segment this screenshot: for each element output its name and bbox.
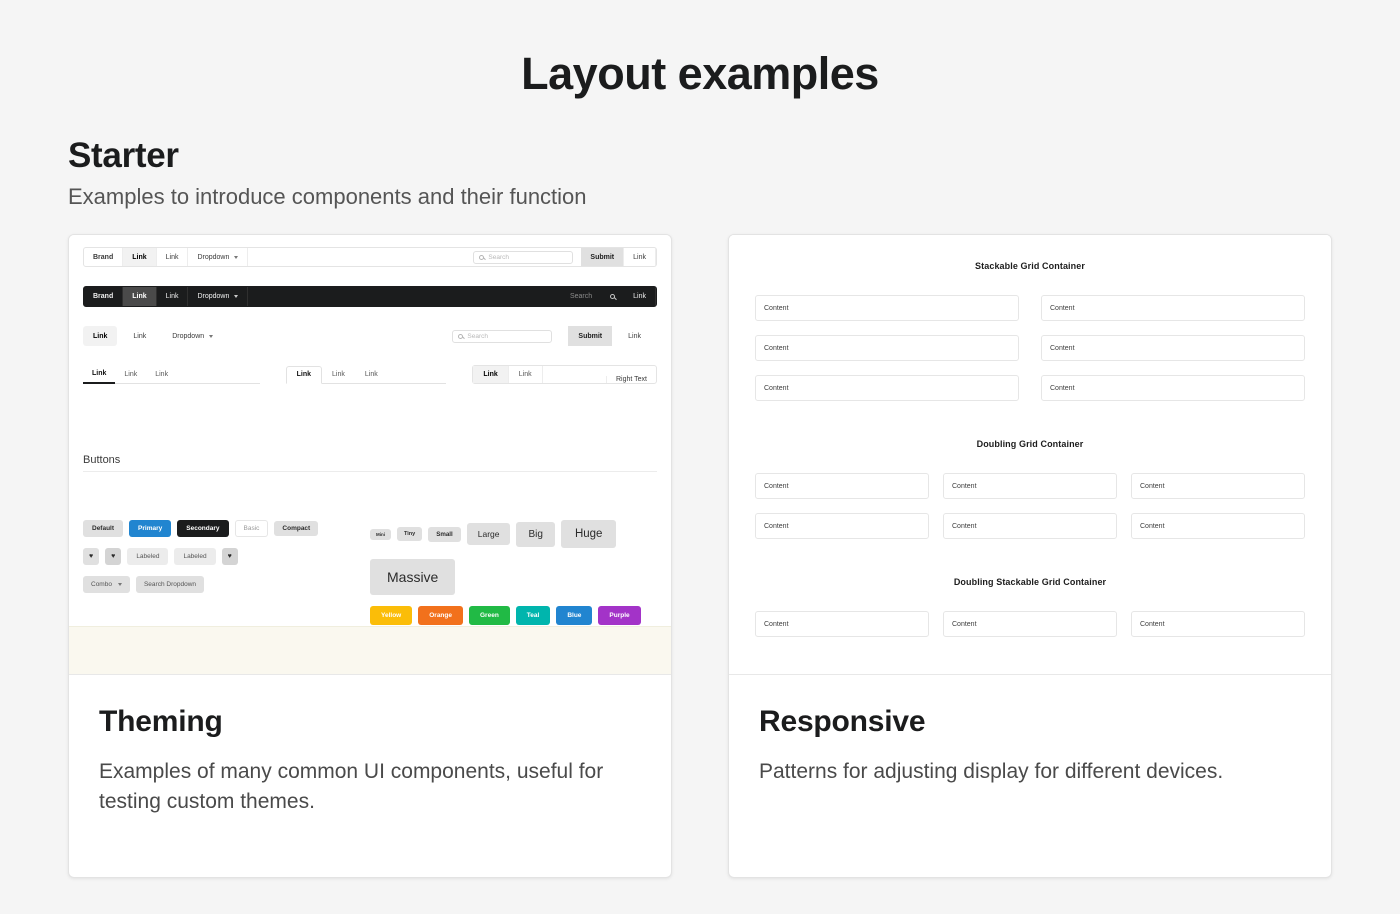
search-placeholder-secondary: Search (467, 333, 488, 340)
search-icon-secondary (458, 334, 463, 339)
section-subtitle: Examples to introduce components and the… (68, 184, 1400, 210)
grid-cell: Content (943, 513, 1117, 539)
tabs-pointing[interactable]: Link Link Right Text (472, 365, 657, 384)
button-heart-icon-1[interactable]: ♥ (83, 548, 99, 565)
tab-pointing-right-text: Right Text (606, 376, 656, 383)
button-combo-dropdown[interactable]: Combo (83, 576, 130, 593)
grid-cell: Content (1131, 513, 1305, 539)
grid-doubling-stackable: Content Content Content (755, 611, 1305, 637)
button-labeled-1[interactable]: Labeled (127, 548, 168, 565)
menu-item-brand-inverted[interactable]: Brand (84, 287, 123, 306)
menu-item-right-link-secondary[interactable]: Link (618, 326, 651, 346)
tab-boxed-1[interactable]: Link (286, 366, 322, 384)
heart-icon-1: ♥ (89, 553, 93, 560)
button-color-yellow[interactable]: Yellow (370, 606, 412, 625)
grid-cell: Content (755, 375, 1019, 401)
search-icon (479, 255, 484, 260)
heart-icon-2: ♥ (111, 553, 115, 560)
grid-cell: Content (1041, 335, 1305, 361)
menu-item-link-1[interactable]: Link (123, 248, 156, 266)
menu-item-dropdown-inverted[interactable]: Dropdown (188, 287, 248, 306)
menu-spacer (248, 248, 465, 266)
menu-item-right-link-inverted[interactable]: Link (624, 287, 656, 306)
tab-underline-3[interactable]: Link (146, 371, 177, 383)
button-secondary[interactable]: Secondary (177, 520, 228, 537)
grid-title-doubling-stackable: Doubling Stackable Grid Container (755, 577, 1305, 587)
menu-item-right-link[interactable]: Link (624, 248, 656, 266)
page-title: Layout examples (0, 0, 1400, 100)
menu-inverted[interactable]: Brand Link Link Dropdown Search Link (83, 286, 657, 307)
buttons-row-massive: Massive (370, 559, 657, 595)
grid-cell: Content (1131, 473, 1305, 499)
buttons-row-colors: Yellow Orange Green Teal Blue Purple (370, 606, 657, 625)
card-description-theming: Examples of many common UI components, u… (99, 757, 641, 817)
search-placeholder: Search (488, 254, 509, 261)
button-search-dropdown[interactable]: Search Dropdown (136, 576, 204, 593)
tab-pointing-1[interactable]: Link (473, 366, 508, 383)
button-size-small[interactable]: Small (428, 527, 461, 542)
tab-underline-2[interactable]: Link (115, 371, 146, 383)
card-responsive-body: Responsive Patterns for adjusting displa… (729, 675, 1331, 787)
button-size-mini[interactable]: Mini (370, 529, 391, 540)
menu-item-link-2-inverted[interactable]: Link (157, 287, 189, 306)
menu-search-wrap-secondary[interactable]: Search (442, 326, 562, 346)
search-icon-inverted (610, 294, 615, 299)
buttons-row-dropdowns: Combo Search Dropdown (83, 576, 370, 593)
grid-cell: Content (755, 335, 1019, 361)
buttons-column-left: Default Primary Secondary Basic Compact … (83, 520, 370, 636)
tab-rows: Link Link Link Link Link Link Link Link (83, 365, 657, 384)
section-title: Starter (68, 136, 1400, 176)
grid-cell: Content (1041, 375, 1305, 401)
grid-cell: Content (1041, 295, 1305, 321)
grid-cell: Content (943, 611, 1117, 637)
section-starter: Starter Examples to introduce components… (0, 100, 1400, 210)
grid-stackable: Content Content Content Content Content … (755, 295, 1305, 401)
tabs-boxed[interactable]: Link Link Link (286, 365, 447, 384)
tab-boxed-3[interactable]: Link (355, 367, 388, 383)
button-size-big[interactable]: Big (516, 522, 554, 547)
button-basic[interactable]: Basic (235, 520, 269, 537)
grid-cell: Content (755, 473, 929, 499)
menu-spacer-secondary (229, 326, 442, 346)
buttons-heading: Buttons (83, 454, 657, 472)
card-theming-body: Theming Examples of many common UI compo… (69, 675, 671, 817)
menu-item-link-2[interactable]: Link (157, 248, 189, 266)
buttons-column-right: Mini Tiny Small Large Big Huge Massive (370, 520, 657, 636)
menu-item-link-1-secondary[interactable]: Link (83, 326, 117, 346)
button-heart-icon-3[interactable]: ♥ (222, 548, 238, 565)
button-size-tiny[interactable]: Tiny (397, 527, 422, 541)
button-labeled-2[interactable]: Labeled (174, 548, 215, 565)
buttons-zone: Default Primary Secondary Basic Compact … (83, 520, 657, 636)
responsive-preview: Stackable Grid Container Content Content… (729, 235, 1331, 675)
submit-button[interactable]: Submit (581, 248, 624, 266)
grid-cell: Content (755, 611, 929, 637)
button-default[interactable]: Default (83, 520, 123, 537)
grid-title-stackable: Stackable Grid Container (755, 261, 1305, 271)
button-size-huge[interactable]: Huge (561, 520, 617, 548)
menu-item-brand[interactable]: Brand (84, 248, 123, 266)
buttons-row-sizes: Mini Tiny Small Large Big Huge (370, 520, 657, 548)
theming-preview: Brand Link Link Dropdown Search Submit (69, 235, 671, 675)
page-root: Layout examples Starter Examples to intr… (0, 0, 1400, 914)
search-icon-inverted-wrap[interactable] (601, 287, 624, 306)
buttons-row-labeled: ♥ ♥ Labeled Labeled ♥ (83, 548, 370, 565)
card-title-responsive: Responsive (759, 705, 1301, 739)
menu-bordered[interactable]: Brand Link Link Dropdown Search Submit (83, 247, 657, 267)
menu-item-link-1-inverted[interactable]: Link (123, 287, 156, 306)
tab-pointing-2[interactable]: Link (509, 366, 543, 383)
card-grid: Brand Link Link Dropdown Search Submit (0, 210, 1400, 878)
button-size-massive[interactable]: Massive (370, 559, 455, 595)
grid-cell: Content (943, 473, 1117, 499)
menu-item-dropdown-secondary[interactable]: Dropdown (162, 326, 223, 346)
menu-item-link-2-secondary[interactable]: Link (123, 326, 156, 346)
heart-icon-3: ♥ (228, 553, 232, 560)
menu-search-wrap[interactable]: Search (465, 248, 581, 266)
tab-boxed-2[interactable]: Link (322, 367, 355, 383)
combo-label: Combo (91, 581, 112, 588)
grid-doubling: Content Content Content Content Content … (755, 473, 1305, 539)
card-title-theming: Theming (99, 705, 641, 739)
menu-item-dropdown[interactable]: Dropdown (188, 248, 248, 266)
card-description-responsive: Patterns for adjusting display for diffe… (759, 757, 1301, 787)
button-color-teal[interactable]: Teal (516, 606, 551, 625)
grid-cell: Content (755, 513, 929, 539)
grid-title-doubling: Doubling Grid Container (755, 439, 1305, 449)
grid-cell: Content (755, 295, 1019, 321)
button-color-purple[interactable]: Purple (598, 606, 640, 625)
button-primary[interactable]: Primary (129, 520, 171, 537)
search-input-secondary[interactable]: Search (452, 330, 552, 343)
search-input[interactable]: Search (473, 251, 573, 264)
menu-secondary[interactable]: Link Link Dropdown Search Submit Link (83, 326, 657, 346)
submit-button-secondary[interactable]: Submit (568, 326, 612, 346)
button-color-orange[interactable]: Orange (418, 606, 463, 625)
card-responsive[interactable]: Stackable Grid Container Content Content… (728, 234, 1332, 878)
search-placeholder-inverted[interactable]: Search (561, 287, 601, 306)
tab-underline-1[interactable]: Link (83, 370, 115, 384)
button-heart-icon-2[interactable]: ♥ (105, 548, 121, 565)
tabs-underline[interactable]: Link Link Link (83, 365, 260, 384)
button-color-blue[interactable]: Blue (556, 606, 592, 625)
buttons-row-emphasis: Default Primary Secondary Basic Compact (83, 520, 370, 537)
button-compact[interactable]: Compact (274, 521, 318, 536)
preview-cream-band (69, 626, 671, 674)
chevron-down-icon (118, 583, 122, 586)
menu-spacer-inverted (248, 287, 561, 306)
grid-cell: Content (1131, 611, 1305, 637)
button-color-green[interactable]: Green (469, 606, 510, 625)
card-theming[interactable]: Brand Link Link Dropdown Search Submit (68, 234, 672, 878)
button-size-large[interactable]: Large (467, 523, 511, 545)
